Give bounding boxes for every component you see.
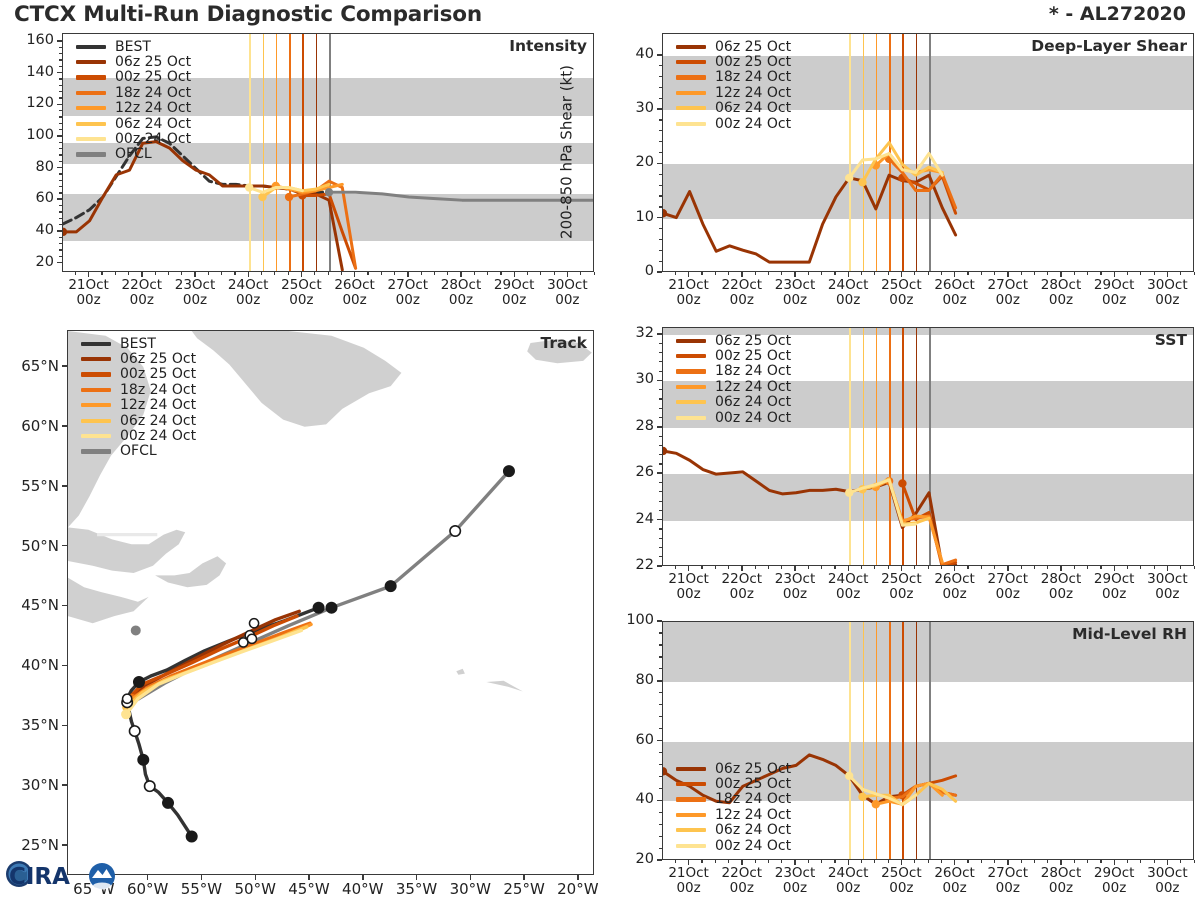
x-tick-label: 30Oct00z bbox=[1132, 572, 1200, 602]
x-minor-tick bbox=[1100, 272, 1101, 275]
x-minor-tick bbox=[1047, 272, 1048, 275]
y-minor-tick bbox=[659, 812, 662, 813]
y-tick-label: 10 bbox=[604, 209, 654, 225]
legend-label: 06z 25 Oct bbox=[115, 54, 191, 70]
y-tick-mark bbox=[657, 859, 662, 861]
series-init-marker bbox=[845, 174, 853, 182]
y-tick-mark bbox=[57, 198, 62, 200]
x-minor-tick bbox=[1074, 272, 1075, 275]
series-init-marker bbox=[872, 800, 880, 808]
legend-swatch bbox=[76, 122, 106, 126]
track-day-marker bbox=[134, 677, 144, 687]
legend-item-00z-24-oct[interactable]: 00z 24 Oct bbox=[81, 428, 196, 443]
x-minor-tick bbox=[861, 566, 862, 569]
legend-label: 18z 24 Oct bbox=[715, 791, 791, 807]
x-minor-tick bbox=[781, 860, 782, 863]
x-minor-tick bbox=[1154, 272, 1155, 275]
series-init-marker bbox=[285, 193, 293, 201]
maritimes-landmass bbox=[68, 578, 149, 624]
y-tick-mark bbox=[657, 426, 662, 428]
legend-item-18z-24-oct[interactable]: 18z 24 Oct bbox=[76, 85, 191, 100]
legend-label: 06z 24 Oct bbox=[715, 100, 791, 116]
y-tick-label: 30 bbox=[604, 371, 654, 387]
lat-tick-label: 65°N bbox=[0, 357, 59, 375]
y-minor-tick bbox=[59, 85, 62, 86]
storm-id-label: * - AL272020 bbox=[1049, 3, 1186, 25]
lat-tick-mark bbox=[62, 665, 67, 667]
y-minor-tick bbox=[659, 704, 662, 705]
y-minor-tick bbox=[659, 352, 662, 353]
legend-item-00z-24-oct[interactable]: 00z 24 Oct bbox=[676, 116, 791, 131]
series-18z-24-oct bbox=[889, 481, 956, 565]
greenland-landmass bbox=[192, 331, 402, 427]
rh-legend: 06z 25 Oct00z 25 Oct18z 24 Oct12z 24 Oct… bbox=[676, 761, 791, 853]
y-tick-label: 0 bbox=[604, 263, 654, 279]
legend-swatch bbox=[76, 60, 106, 64]
y-minor-tick bbox=[59, 47, 62, 48]
legend-swatch bbox=[81, 372, 111, 376]
y-minor-tick bbox=[659, 65, 662, 66]
lat-tick-mark bbox=[62, 545, 67, 547]
sst-legend: 06z 25 Oct00z 25 Oct18z 24 Oct12z 24 Oct… bbox=[676, 333, 791, 425]
x-minor-tick bbox=[1021, 272, 1022, 275]
y-minor-tick bbox=[659, 408, 662, 409]
y-minor-tick bbox=[659, 398, 662, 399]
y-tick-label: 20 bbox=[604, 851, 654, 867]
legend-label: 06z 25 Oct bbox=[715, 333, 791, 349]
y-tick-label: 140 bbox=[4, 64, 54, 80]
y-minor-tick bbox=[659, 98, 662, 99]
y-tick-mark bbox=[657, 519, 662, 521]
series-init-marker bbox=[662, 447, 667, 455]
y-tick-label: 20 bbox=[604, 154, 654, 170]
legend-label: 18z 24 Oct bbox=[715, 363, 791, 379]
y-tick-label: 40 bbox=[4, 222, 54, 238]
series-init-marker bbox=[325, 188, 333, 196]
azores-west bbox=[456, 669, 465, 675]
x-minor-tick bbox=[834, 272, 835, 275]
x-minor-tick bbox=[1100, 566, 1101, 569]
lon-tick-label: 20°W bbox=[543, 881, 613, 898]
y-tick-mark bbox=[57, 40, 62, 42]
y-minor-tick bbox=[659, 824, 662, 825]
y-tick-mark bbox=[657, 54, 662, 56]
series-init-marker bbox=[245, 183, 253, 191]
lat-tick-label: 40°N bbox=[0, 656, 59, 674]
y-minor-tick bbox=[59, 110, 62, 111]
legend-swatch bbox=[676, 91, 706, 95]
x-minor-tick bbox=[128, 272, 129, 275]
y-tick-mark bbox=[657, 740, 662, 742]
track-legend: BEST06z 25 Oct00z 25 Oct18z 24 Oct12z 24… bbox=[81, 336, 196, 459]
y-minor-tick bbox=[59, 249, 62, 250]
lat-tick-mark bbox=[62, 725, 67, 727]
y-minor-tick bbox=[659, 76, 662, 77]
legend-swatch bbox=[76, 75, 106, 79]
y-minor-tick bbox=[659, 445, 662, 446]
legend-item-06z-25-oct[interactable]: 06z 25 Oct bbox=[676, 333, 791, 348]
y-minor-tick bbox=[659, 776, 662, 777]
legend-label: 00z 24 Oct bbox=[715, 410, 791, 426]
legend-swatch bbox=[76, 45, 106, 49]
legend-item-00z-25-oct[interactable]: 00z 25 Oct bbox=[81, 367, 196, 382]
x-minor-tick bbox=[1194, 566, 1195, 569]
x-minor-tick bbox=[288, 272, 289, 275]
x-minor-tick bbox=[808, 860, 809, 863]
shear-legend: 06z 25 Oct00z 25 Oct18z 24 Oct12z 24 Oct… bbox=[676, 39, 791, 131]
series-init-marker bbox=[845, 489, 853, 497]
legend-item-best[interactable]: BEST bbox=[76, 39, 191, 54]
x-minor-tick bbox=[808, 272, 809, 275]
x-minor-tick bbox=[1194, 272, 1195, 275]
legend-label: 00z 24 Oct bbox=[115, 131, 191, 147]
legend-item-18z-24-oct[interactable]: 18z 24 Oct bbox=[676, 364, 791, 379]
legend-item-00z-24-oct[interactable]: 00z 24 Oct bbox=[676, 838, 791, 853]
x-minor-tick bbox=[341, 272, 342, 275]
x-minor-tick bbox=[1074, 566, 1075, 569]
lat-tick-mark bbox=[62, 425, 67, 427]
y-tick-mark bbox=[57, 262, 62, 264]
x-minor-tick bbox=[941, 566, 942, 569]
y-tick-label: 60 bbox=[604, 732, 654, 748]
track-day-marker bbox=[450, 526, 460, 536]
y-minor-tick bbox=[659, 141, 662, 142]
lat-tick-label: 30°N bbox=[0, 776, 59, 794]
legend-item-06z-25-oct[interactable]: 06z 25 Oct bbox=[76, 54, 191, 69]
x-minor-tick bbox=[1021, 566, 1022, 569]
x-minor-tick bbox=[1154, 860, 1155, 863]
shear-panel-title: Deep-Layer Shear bbox=[1031, 37, 1187, 55]
y-tick-mark bbox=[657, 271, 662, 273]
legend-label: BEST bbox=[120, 336, 156, 352]
legend-swatch bbox=[76, 91, 106, 95]
x-minor-tick bbox=[1140, 566, 1141, 569]
x-minor-tick bbox=[1087, 566, 1088, 569]
y-minor-tick bbox=[59, 78, 62, 79]
x-minor-tick bbox=[421, 272, 422, 275]
y-minor-tick bbox=[59, 66, 62, 67]
y-tick-mark bbox=[657, 333, 662, 335]
track-series-00z-24-oct bbox=[126, 630, 301, 714]
legend-swatch bbox=[676, 385, 706, 389]
legend-item-06z-24-oct[interactable]: 06z 24 Oct bbox=[676, 823, 791, 838]
x-minor-tick bbox=[1047, 860, 1048, 863]
y-minor-tick bbox=[659, 152, 662, 153]
legend-label: 06z 25 Oct bbox=[715, 39, 791, 55]
azores-central bbox=[486, 681, 523, 692]
x-minor-tick bbox=[1100, 860, 1101, 863]
y-minor-tick bbox=[59, 91, 62, 92]
legend-item-18z-24-oct[interactable]: 18z 24 Oct bbox=[81, 382, 196, 397]
y-tick-mark bbox=[657, 800, 662, 802]
lat-tick-mark bbox=[62, 844, 67, 846]
x-minor-tick bbox=[367, 272, 368, 275]
x-tick-label: 30Oct00z bbox=[1132, 866, 1200, 896]
legend-item-ofcl[interactable]: OFCL bbox=[81, 444, 196, 459]
legend-swatch bbox=[81, 388, 111, 392]
x-minor-tick bbox=[914, 272, 915, 275]
x-minor-tick bbox=[781, 566, 782, 569]
legend-item-12z-24-oct[interactable]: 12z 24 Oct bbox=[676, 807, 791, 822]
series-06z-25-oct bbox=[663, 175, 956, 262]
y-minor-tick bbox=[59, 161, 62, 162]
legend-swatch bbox=[81, 403, 111, 407]
y-minor-tick bbox=[659, 130, 662, 131]
x-minor-tick bbox=[1154, 566, 1155, 569]
y-minor-tick bbox=[59, 205, 62, 206]
x-minor-tick bbox=[701, 566, 702, 569]
y-minor-tick bbox=[659, 788, 662, 789]
legend-item-00z-25-oct[interactable]: 00z 25 Oct bbox=[676, 348, 791, 363]
legend-item-00z-24-oct[interactable]: 00z 24 Oct bbox=[76, 131, 191, 146]
series-ofcl bbox=[329, 192, 594, 200]
y-minor-tick bbox=[59, 218, 62, 219]
shear-y-axis-label: 200-850 hPa Shear (kt) bbox=[557, 32, 575, 271]
legend-label: 12z 24 Oct bbox=[715, 85, 791, 101]
x-minor-tick bbox=[701, 860, 702, 863]
legend-item-12z-24-oct[interactable]: 12z 24 Oct bbox=[676, 85, 791, 100]
y-minor-tick bbox=[659, 343, 662, 344]
y-minor-tick bbox=[59, 154, 62, 155]
x-minor-tick bbox=[928, 272, 929, 275]
legend-swatch bbox=[676, 416, 706, 420]
lat-tick-label: 50°N bbox=[0, 537, 59, 555]
legend-label: 00z 25 Oct bbox=[715, 54, 791, 70]
y-minor-tick bbox=[659, 668, 662, 669]
legend-item-00z-24-oct[interactable]: 00z 24 Oct bbox=[676, 410, 791, 425]
track-day-marker bbox=[504, 466, 514, 476]
y-minor-tick bbox=[59, 224, 62, 225]
legend-item-12z-24-oct[interactable]: 12z 24 Oct bbox=[76, 101, 191, 116]
x-minor-tick bbox=[1127, 860, 1128, 863]
legend-label: 00z 24 Oct bbox=[120, 428, 196, 444]
svg-text:CIRA: CIRA bbox=[9, 864, 70, 890]
track-day-marker bbox=[123, 694, 132, 703]
legend-label: 00z 25 Oct bbox=[115, 69, 191, 85]
y-minor-tick bbox=[659, 174, 662, 175]
legend-item-18z-24-oct[interactable]: 18z 24 Oct bbox=[676, 70, 791, 85]
y-minor-tick bbox=[659, 556, 662, 557]
series-init-marker bbox=[845, 772, 853, 780]
x-minor-tick bbox=[1127, 272, 1128, 275]
x-minor-tick bbox=[967, 860, 968, 863]
y-tick-mark bbox=[657, 108, 662, 110]
legend-item-06z-25-oct[interactable]: 06z 25 Oct bbox=[81, 351, 196, 366]
legend-item-00z-25-oct[interactable]: 00z 25 Oct bbox=[676, 54, 791, 69]
y-minor-tick bbox=[59, 256, 62, 257]
y-tick-label: 24 bbox=[604, 511, 654, 527]
legend-label: BEST bbox=[115, 39, 151, 55]
x-minor-tick bbox=[381, 272, 382, 275]
x-minor-tick bbox=[261, 272, 262, 275]
x-minor-tick bbox=[487, 272, 488, 275]
track-init-marker bbox=[121, 709, 131, 719]
x-minor-tick bbox=[967, 272, 968, 275]
legend-swatch bbox=[676, 354, 706, 358]
legend-label: 12z 24 Oct bbox=[715, 379, 791, 395]
x-minor-tick bbox=[728, 566, 729, 569]
legend-label: 00z 25 Oct bbox=[715, 348, 791, 364]
legend-item-00z-25-oct[interactable]: 00z 25 Oct bbox=[676, 776, 791, 791]
x-minor-tick bbox=[1074, 860, 1075, 863]
x-minor-tick bbox=[715, 566, 716, 569]
lat-tick-label: 60°N bbox=[0, 417, 59, 435]
y-minor-tick bbox=[659, 764, 662, 765]
legend-item-06z-25-oct[interactable]: 06z 25 Oct bbox=[676, 761, 791, 776]
y-minor-tick bbox=[659, 371, 662, 372]
y-minor-tick bbox=[59, 123, 62, 124]
legend-label: OFCL bbox=[115, 146, 152, 162]
y-tick-mark bbox=[57, 167, 62, 169]
x-minor-tick bbox=[967, 566, 968, 569]
y-tick-mark bbox=[657, 163, 662, 165]
legend-swatch bbox=[676, 813, 706, 817]
y-tick-mark bbox=[57, 72, 62, 74]
x-minor-tick bbox=[888, 272, 889, 275]
y-minor-tick bbox=[659, 239, 662, 240]
x-minor-tick bbox=[1180, 860, 1181, 863]
legend-label: 12z 24 Oct bbox=[120, 397, 196, 413]
x-minor-tick bbox=[675, 860, 676, 863]
track-day-marker bbox=[326, 602, 336, 612]
legend-swatch bbox=[81, 449, 111, 453]
legend-item-12z-24-oct[interactable]: 12z 24 Oct bbox=[676, 379, 791, 394]
y-minor-tick bbox=[659, 656, 662, 657]
x-minor-tick bbox=[755, 272, 756, 275]
legend-label: 00z 25 Oct bbox=[120, 366, 196, 382]
legend-item-06z-24-oct[interactable]: 06z 24 Oct bbox=[676, 395, 791, 410]
legend-item-06z-25-oct[interactable]: 06z 25 Oct bbox=[676, 39, 791, 54]
x-minor-tick bbox=[874, 860, 875, 863]
legend-swatch bbox=[81, 357, 111, 361]
legend-swatch bbox=[76, 137, 106, 141]
y-minor-tick bbox=[59, 186, 62, 187]
series-init-marker bbox=[258, 193, 266, 201]
x-minor-tick bbox=[874, 566, 875, 569]
y-tick-mark bbox=[657, 565, 662, 567]
x-minor-tick bbox=[728, 860, 729, 863]
y-minor-tick bbox=[659, 752, 662, 753]
legend-swatch bbox=[676, 60, 706, 64]
legend-item-06z-24-oct[interactable]: 06z 24 Oct bbox=[76, 116, 191, 131]
series-init-marker bbox=[858, 178, 866, 186]
x-minor-tick bbox=[1034, 566, 1035, 569]
y-minor-tick bbox=[659, 119, 662, 120]
x-minor-tick bbox=[834, 860, 835, 863]
x-minor-tick bbox=[314, 272, 315, 275]
y-minor-tick bbox=[659, 848, 662, 849]
y-minor-tick bbox=[659, 250, 662, 251]
legend-label: 18z 24 Oct bbox=[115, 85, 191, 101]
y-minor-tick bbox=[659, 501, 662, 502]
x-minor-tick bbox=[328, 272, 329, 275]
x-minor-tick bbox=[580, 272, 581, 275]
legend-swatch bbox=[676, 782, 706, 786]
legend-swatch bbox=[676, 45, 706, 49]
y-minor-tick bbox=[59, 53, 62, 54]
legend-label: 06z 24 Oct bbox=[715, 394, 791, 410]
y-minor-tick bbox=[659, 228, 662, 229]
track-day-marker bbox=[239, 638, 248, 647]
legend-label: 06z 25 Oct bbox=[120, 351, 196, 367]
x-minor-tick bbox=[834, 566, 835, 569]
x-minor-tick bbox=[715, 860, 716, 863]
x-minor-tick bbox=[1180, 272, 1181, 275]
y-minor-tick bbox=[59, 129, 62, 130]
y-tick-label: 22 bbox=[604, 557, 654, 573]
x-minor-tick bbox=[821, 860, 822, 863]
x-minor-tick bbox=[1087, 860, 1088, 863]
lat-tick-label: 35°N bbox=[0, 716, 59, 734]
x-minor-tick bbox=[1087, 272, 1088, 275]
y-minor-tick bbox=[659, 195, 662, 196]
y-tick-mark bbox=[657, 217, 662, 219]
x-minor-tick bbox=[994, 272, 995, 275]
y-minor-tick bbox=[659, 692, 662, 693]
x-minor-tick bbox=[981, 566, 982, 569]
x-minor-tick bbox=[941, 272, 942, 275]
legend-label: OFCL bbox=[120, 443, 157, 459]
y-minor-tick bbox=[59, 97, 62, 98]
legend-swatch bbox=[676, 828, 706, 832]
y-tick-label: 40 bbox=[604, 46, 654, 62]
y-minor-tick bbox=[659, 728, 662, 729]
x-minor-tick bbox=[821, 566, 822, 569]
legend-item-18z-24-oct[interactable]: 18z 24 Oct bbox=[676, 792, 791, 807]
y-tick-label: 80 bbox=[4, 159, 54, 175]
legend-item-00z-25-oct[interactable]: 00z 25 Oct bbox=[76, 70, 191, 85]
legend-swatch bbox=[676, 400, 706, 404]
legend-label: 18z 24 Oct bbox=[120, 382, 196, 398]
y-minor-tick bbox=[659, 547, 662, 548]
x-minor-tick bbox=[394, 272, 395, 275]
x-minor-tick bbox=[1140, 272, 1141, 275]
lat-tick-mark bbox=[62, 784, 67, 786]
x-minor-tick bbox=[874, 272, 875, 275]
legend-item-ofcl[interactable]: OFCL bbox=[76, 147, 191, 162]
track-day-marker bbox=[247, 634, 256, 643]
y-tick-mark bbox=[657, 680, 662, 682]
page-title: CTCX Multi-Run Diagnostic Comparison bbox=[14, 2, 482, 27]
x-minor-tick bbox=[527, 272, 528, 275]
y-minor-tick bbox=[659, 510, 662, 511]
y-tick-label: 20 bbox=[4, 254, 54, 270]
x-minor-tick bbox=[155, 272, 156, 275]
x-minor-tick bbox=[755, 566, 756, 569]
cira-logo: CIRA bbox=[4, 848, 120, 896]
x-minor-tick bbox=[768, 566, 769, 569]
series-init-marker bbox=[858, 793, 866, 801]
legend-item-12z-24-oct[interactable]: 12z 24 Oct bbox=[81, 398, 196, 413]
legend-swatch bbox=[676, 106, 706, 110]
y-minor-tick bbox=[659, 454, 662, 455]
legend-item-06z-24-oct[interactable]: 06z 24 Oct bbox=[676, 101, 791, 116]
track-day-marker bbox=[163, 798, 173, 808]
legend-label: 18z 24 Oct bbox=[715, 69, 791, 85]
x-minor-tick bbox=[941, 860, 942, 863]
legend-label: 06z 24 Oct bbox=[120, 413, 196, 429]
track-day-marker bbox=[129, 726, 139, 736]
y-minor-tick bbox=[659, 361, 662, 362]
track-day-marker bbox=[385, 581, 395, 591]
legend-item-best[interactable]: BEST bbox=[81, 336, 196, 351]
track-day-marker bbox=[186, 831, 196, 841]
y-minor-tick bbox=[659, 644, 662, 645]
y-minor-tick bbox=[59, 180, 62, 181]
series-init-marker bbox=[662, 209, 667, 217]
track-panel-title: Track bbox=[541, 334, 587, 352]
legend-item-06z-24-oct[interactable]: 06z 24 Oct bbox=[81, 413, 196, 428]
